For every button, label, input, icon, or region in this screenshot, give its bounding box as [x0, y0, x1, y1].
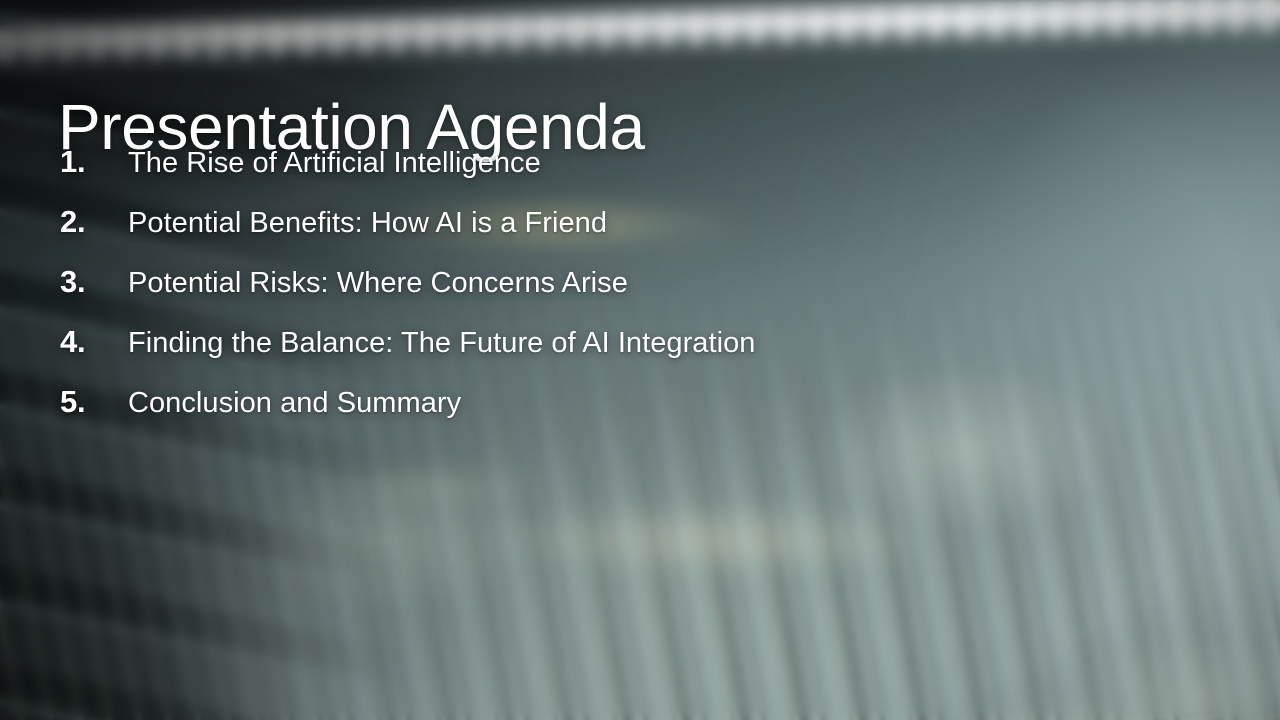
agenda-item-4: 4. Finding the Balance: The Future of AI… [60, 324, 755, 384]
agenda-item-label: Conclusion and Summary [128, 387, 461, 420]
agenda-item-number: 2. [60, 204, 128, 240]
agenda-item-5: 5. Conclusion and Summary [60, 384, 755, 444]
agenda-item-number: 4. [60, 324, 128, 360]
agenda-item-3: 3. Potential Risks: Where Concerns Arise [60, 264, 755, 324]
slide-content: Presentation Agenda 1. The Rise of Artif… [0, 0, 1280, 720]
agenda-item-label: Finding the Balance: The Future of AI In… [128, 327, 755, 360]
agenda-item-number: 5. [60, 384, 128, 420]
agenda-item-label: The Rise of Artificial Intelligence [128, 147, 541, 180]
agenda-item-2: 2. Potential Benefits: How AI is a Frien… [60, 204, 755, 264]
agenda-item-label: Potential Risks: Where Concerns Arise [128, 267, 628, 300]
agenda-list: 1. The Rise of Artificial Intelligence 2… [60, 144, 755, 444]
agenda-item-number: 1. [60, 144, 128, 180]
agenda-item-label: Potential Benefits: How AI is a Friend [128, 207, 607, 240]
presentation-slide: Presentation Agenda 1. The Rise of Artif… [0, 0, 1280, 720]
agenda-item-1: 1. The Rise of Artificial Intelligence [60, 144, 755, 204]
agenda-item-number: 3. [60, 264, 128, 300]
